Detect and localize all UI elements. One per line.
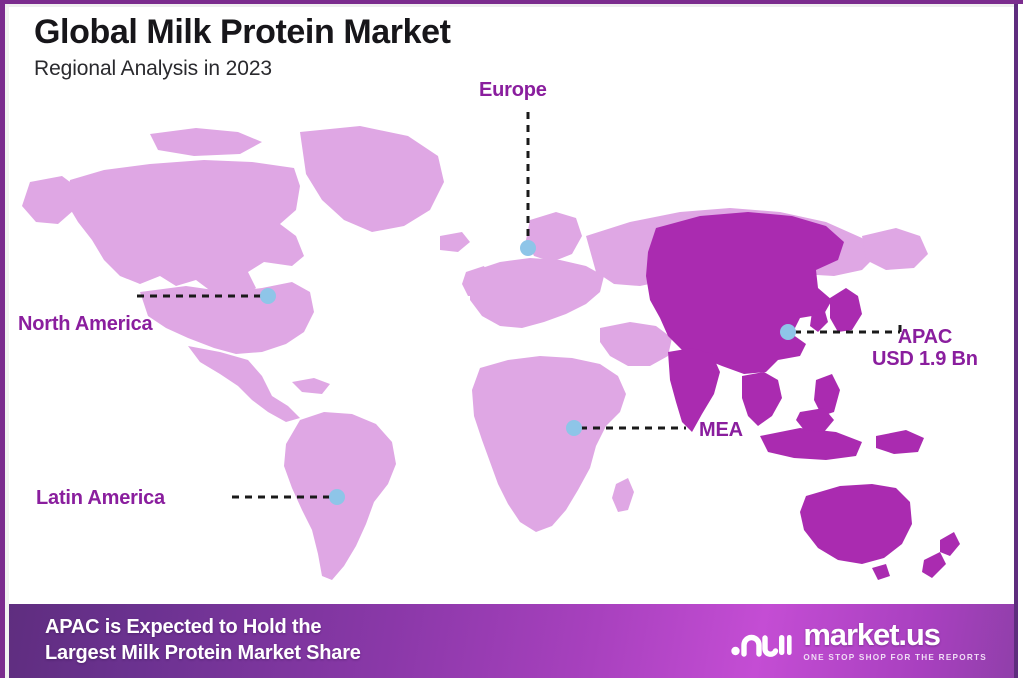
page-title: Global Milk Protein Market: [34, 14, 451, 51]
frame-top-inset: [5, 4, 1014, 7]
region-usa: [140, 282, 314, 354]
region-label-europe: Europe: [479, 79, 547, 101]
region-iceland: [440, 232, 470, 252]
region-label-mea: MEA: [699, 419, 743, 441]
frame-left-border: [0, 0, 5, 687]
brand-tagline: ONE STOP SHOP FOR THE REPORTS: [803, 654, 987, 662]
banner-headline: APAC is Expected to Hold the Largest Mil…: [45, 615, 361, 666]
region-apac-png: [876, 430, 924, 454]
region-south-america: [284, 412, 396, 580]
region-alaska: [22, 176, 78, 224]
region-russia-east: [862, 228, 928, 270]
header: Global Milk Protein Market Regional Anal…: [34, 14, 451, 81]
brand-name: market.us: [803, 619, 987, 650]
region-africa: [472, 356, 626, 532]
region-apac-asia: [646, 212, 844, 374]
region-mexico: [188, 346, 300, 422]
region-madagascar: [612, 478, 634, 512]
brand-logo-text: market.us ONE STOP SHOP FOR THE REPORTS: [803, 619, 987, 662]
region-apac-tasmania: [872, 564, 890, 580]
banner-headline-line1: APAC is Expected to Hold the: [45, 615, 361, 641]
brand-logo[interactable]: market.us ONE STOP SHOP FOR THE REPORTS: [730, 619, 987, 662]
region-label-latin-america: Latin America: [36, 487, 165, 509]
region-caribbean: [292, 378, 330, 394]
region-europe: [470, 258, 604, 328]
region-middle-east: [600, 322, 672, 366]
region-apac-indonesia: [760, 428, 862, 460]
region-apac-newzealand-south: [922, 552, 946, 578]
banner-headline-line2: Largest Milk Protein Market Share: [45, 641, 361, 667]
region-apac-japan: [830, 288, 862, 332]
infographic-root: Global Milk Protein Market Regional Anal…: [0, 0, 1023, 687]
world-map: [0, 60, 1023, 605]
frame-bottom-border: [0, 678, 1023, 687]
region-arctic-islands: [150, 128, 262, 156]
region-apac-newzealand: [940, 532, 960, 556]
region-label-north-america: North America: [18, 313, 152, 335]
region-label-apac: APAC USD 1.9 Bn: [872, 326, 978, 371]
region-greenland: [300, 126, 444, 232]
region-label-apac-value: USD 1.9 Bn: [872, 348, 978, 370]
region-scandinavia: [526, 212, 582, 262]
region-canada: [66, 160, 304, 298]
region-apac-australia: [800, 484, 912, 564]
region-label-apac-name: APAC: [872, 326, 978, 348]
region-apac-sea: [742, 372, 782, 426]
page-subtitle: Regional Analysis in 2023: [34, 57, 451, 81]
frame-right-outer: [1018, 0, 1023, 687]
bottom-banner: APAC is Expected to Hold the Largest Mil…: [0, 604, 1023, 678]
market-us-logo-icon: [730, 621, 792, 661]
frame-left-inset: [5, 4, 9, 687]
world-map-svg: [0, 60, 1023, 605]
